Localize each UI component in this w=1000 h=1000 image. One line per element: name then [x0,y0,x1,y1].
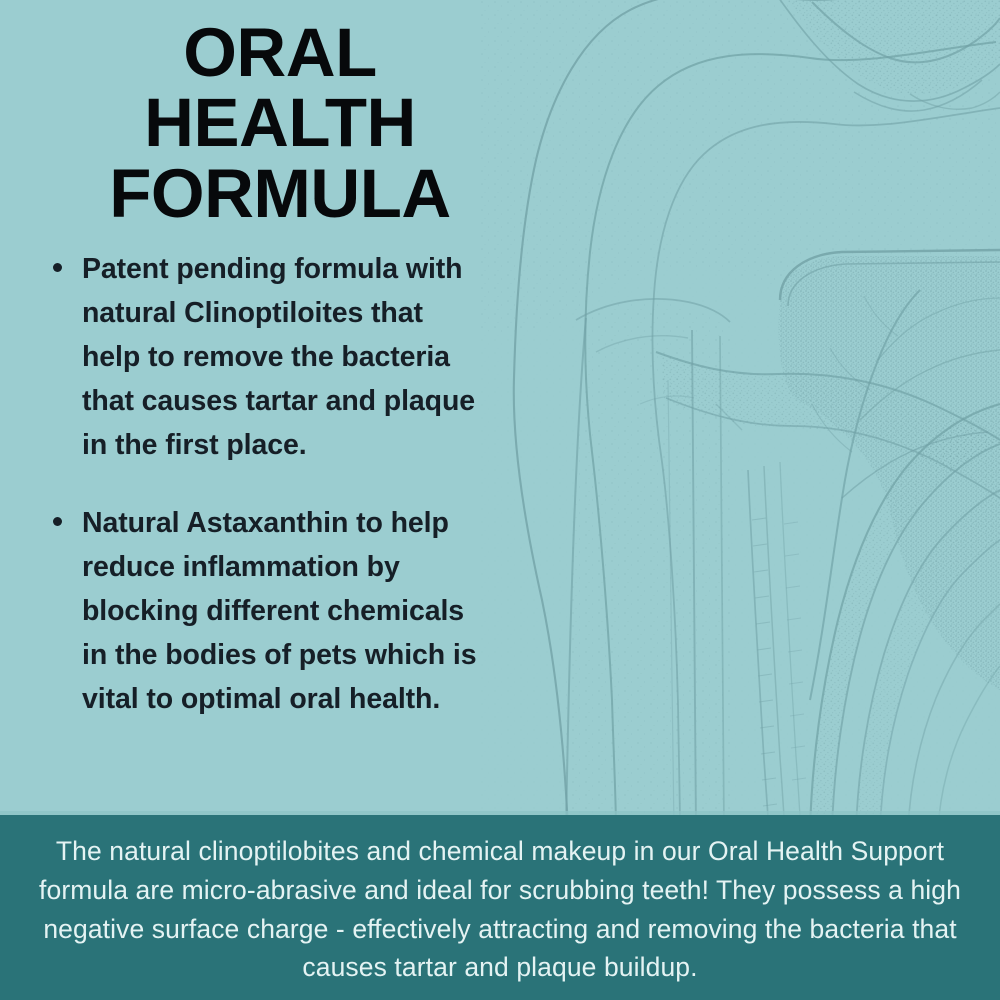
left-content-column: ORAL HEALTH FORMULA Patent pending formu… [0,0,560,815]
bullet-dot-icon [53,263,62,272]
list-item: Patent pending formula with natural Clin… [0,247,560,467]
bullet-text: Natural Astaxanthin to help reduce infla… [82,507,476,715]
bullet-dot-icon [53,517,62,526]
oral-health-formula-poster: ORAL HEALTH FORMULA Patent pending formu… [0,0,1000,1000]
page-title: ORAL HEALTH FORMULA [0,0,560,229]
footer-description-text: The natural clinoptilobites and chemical… [22,832,978,987]
footer-band: The natural clinoptilobites and chemical… [0,815,1000,1000]
footer-top-divider [0,811,1000,815]
bullet-text: Patent pending formula with natural Clin… [82,253,475,461]
list-item: Natural Astaxanthin to help reduce infla… [0,501,560,721]
feature-bullet-list: Patent pending formula with natural Clin… [0,247,560,721]
